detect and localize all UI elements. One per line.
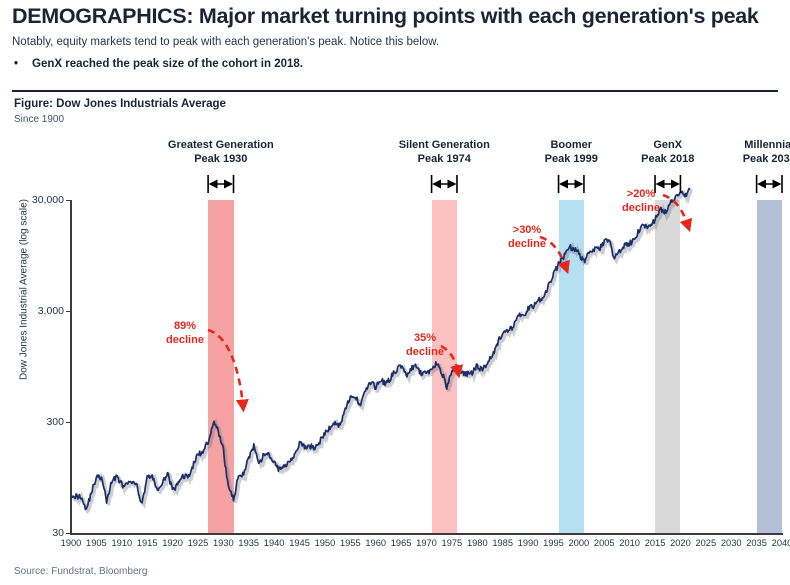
generation-band xyxy=(432,200,457,533)
figure-title: Figure: Dow Jones Industrials Average xyxy=(14,98,226,110)
decline-callout-value: >30% xyxy=(492,224,562,238)
y-axis-tick-label: 30,000 xyxy=(32,194,64,206)
generation-peak-year: Peak 1930 xyxy=(141,152,301,166)
decline-callout: 35%decline xyxy=(390,332,460,359)
decline-callout-value: 35% xyxy=(390,332,460,346)
slide-root: DEMOGRAPHICS: Major market turning point… xyxy=(0,0,790,585)
y-axis-tick: 30,000 xyxy=(0,194,64,206)
page-title: DEMOGRAPHICS: Major market turning point… xyxy=(12,4,759,29)
y-axis-tick: 30 xyxy=(0,527,64,539)
generation-name: Greatest Generation xyxy=(141,138,301,152)
y-axis-title: Dow Jones Industrial Average (log scale) xyxy=(19,180,30,400)
generation-header: MillennialPeak 2038 xyxy=(689,138,790,166)
y-axis-tick-label: 3,000 xyxy=(38,305,64,317)
header-divider xyxy=(12,90,778,92)
generation-peak-year: Peak 2038 xyxy=(689,152,790,166)
y-axis-tick: 3,000 xyxy=(0,305,64,317)
y-axis-tick-label: 300 xyxy=(46,416,64,428)
generation-name: Millennial xyxy=(689,138,790,152)
band-bracket xyxy=(757,175,782,193)
decline-callout: >30%decline xyxy=(492,224,562,251)
bullet-marker-icon: • xyxy=(14,58,32,70)
decline-callout-label: decline xyxy=(606,202,676,216)
x-axis-tick-label: 2040 xyxy=(767,538,790,548)
generation-header: Greatest GenerationPeak 1930 xyxy=(141,138,301,166)
y-axis-tick-mark xyxy=(66,311,71,312)
generation-band xyxy=(655,200,680,533)
plot-area xyxy=(71,200,782,533)
decline-callout-label: decline xyxy=(492,238,562,252)
generation-band xyxy=(559,200,584,533)
decline-callout-label: decline xyxy=(390,346,460,360)
decline-callout-value: 89% xyxy=(150,320,220,334)
y-axis-tick-mark xyxy=(66,422,71,423)
decline-callout: >20%decline xyxy=(606,188,676,215)
source-note: Source: Fundstrat, Bloomberg xyxy=(14,566,147,577)
x-axis-line xyxy=(70,533,783,535)
generation-band xyxy=(208,200,233,533)
y-axis-tick: 300 xyxy=(0,416,64,428)
decline-callout-value: >20% xyxy=(606,188,676,202)
band-bracket xyxy=(559,175,584,193)
bullet-point: •GenX reached the peak size of the cohor… xyxy=(14,58,303,70)
generation-band xyxy=(757,200,782,533)
y-axis-tick-mark xyxy=(66,200,71,201)
band-bracket xyxy=(208,175,233,193)
bullet-text: GenX reached the peak size of the cohort… xyxy=(32,58,303,70)
page-subtitle: Notably, equity markets tend to peak wit… xyxy=(12,36,439,48)
decline-callout-label: decline xyxy=(150,334,220,348)
decline-callout: 89%decline xyxy=(150,320,220,347)
chart-canvas: Dow Jones Industrial Average (log scale)… xyxy=(0,124,790,560)
band-bracket xyxy=(432,175,457,193)
y-axis-tick-mark xyxy=(66,533,71,534)
